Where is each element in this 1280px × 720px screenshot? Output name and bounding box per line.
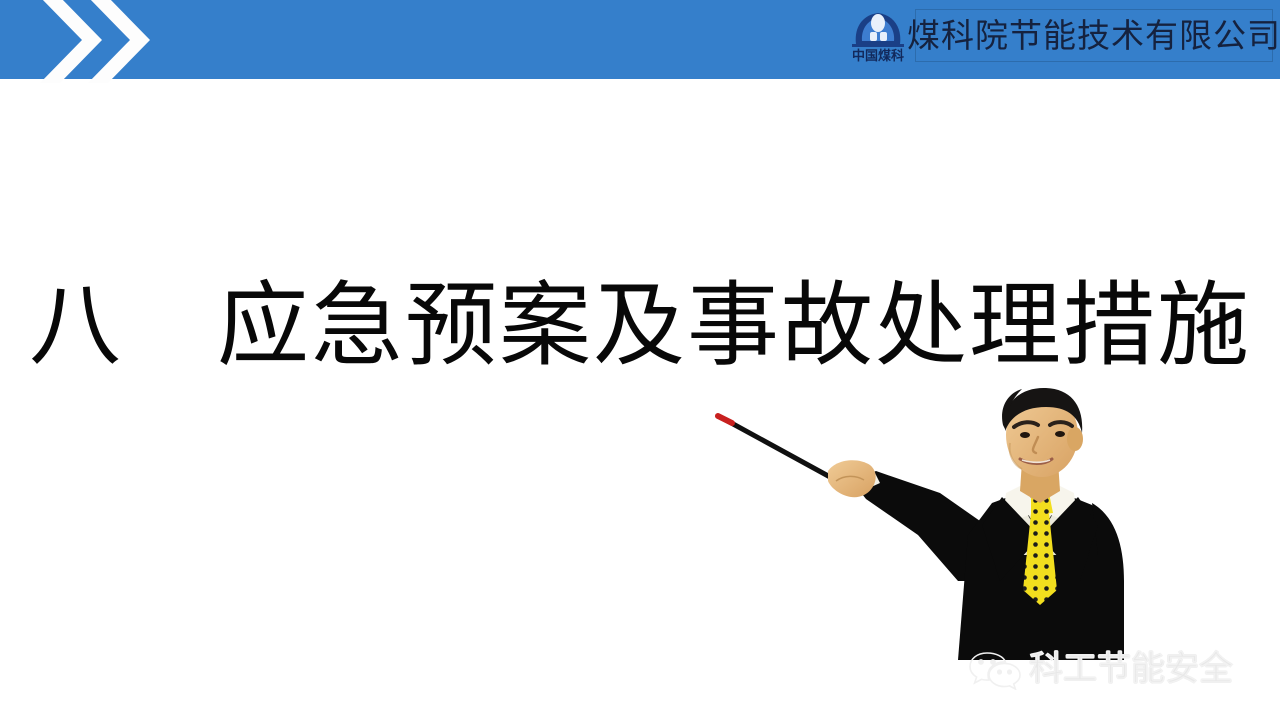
wechat-icon: [968, 648, 1022, 690]
brand-logo-caption: 中国煤科: [843, 48, 913, 63]
presenter-photo: [700, 385, 1200, 660]
company-name-label: 煤科院节能技术有限公司: [907, 18, 1280, 54]
china-coal-emblem-icon: [850, 8, 906, 48]
chevron-decoration-group: [40, 0, 170, 83]
page-title: 八 应急预案及事故处理措施: [0, 272, 1280, 380]
watermark-label: 科工节能安全: [1029, 650, 1233, 688]
slide-header-bar: 中国煤科 煤科院节能技术有限公司: [0, 0, 1280, 79]
wechat-watermark: 科工节能安全: [968, 646, 1258, 692]
brand-logo: 中国煤科: [843, 6, 913, 74]
presentation-slide: 中国煤科 煤科院节能技术有限公司 八 应急预案及事故处理措施: [0, 0, 1280, 720]
chevron-right-icon: [88, 0, 158, 83]
company-name-textbox: 煤科院节能技术有限公司: [915, 9, 1273, 62]
